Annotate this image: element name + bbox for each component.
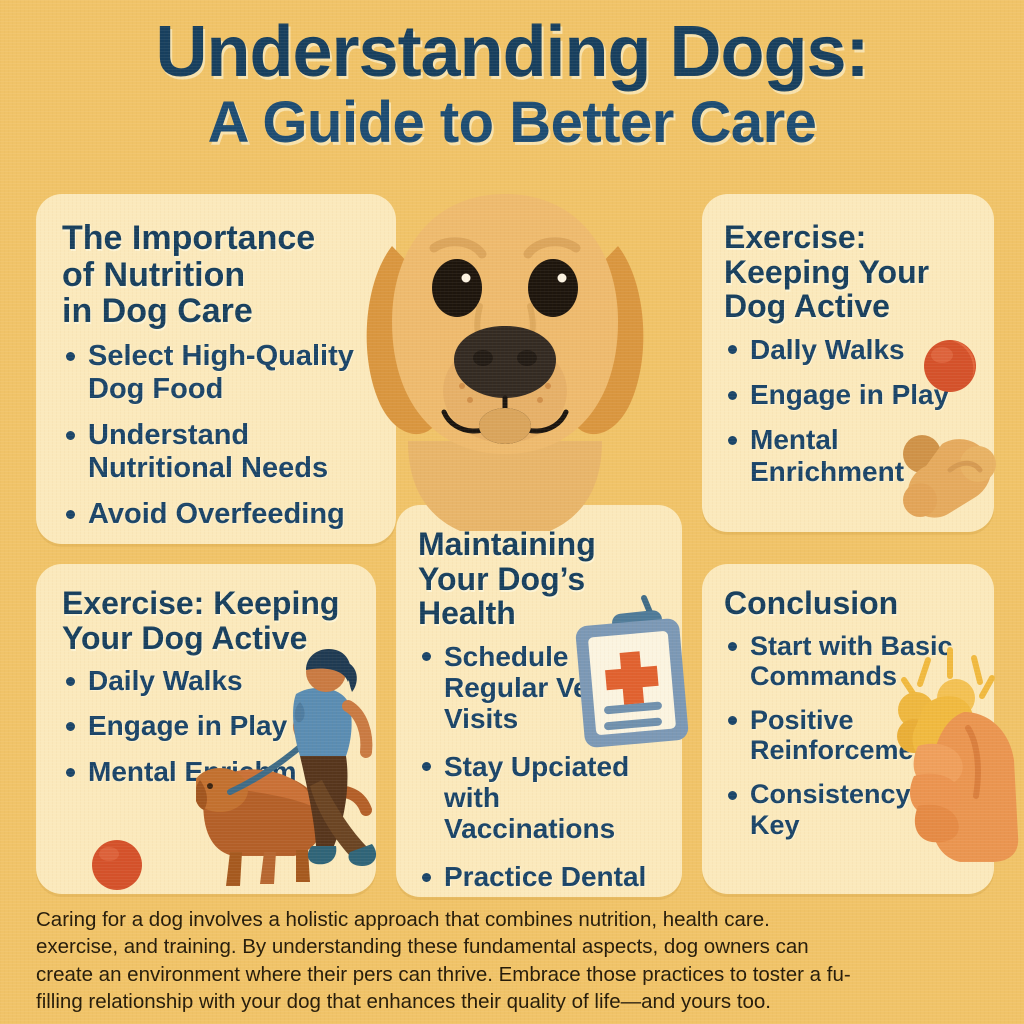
page-title: Understanding Dogs: A Guide to Better Ca… <box>0 16 1024 154</box>
footer-line-3: create an environment where their pers c… <box>36 961 998 988</box>
list-item: Stay Upciated with Vaccinations <box>418 751 668 845</box>
footer-line-4: filling relationship with your dog that … <box>36 988 998 1015</box>
title-line-1: Understanding Dogs: <box>0 16 1024 89</box>
ball-icon <box>90 838 144 892</box>
title-line-2: A Guide to Better Care <box>0 93 1024 154</box>
person-walking-dog-illustration <box>196 640 388 890</box>
list-item: Select High-Quality Dog Food <box>62 340 376 405</box>
card-nutrition-list: Select High-Quality Dog Food Understand … <box>62 340 376 530</box>
medical-clipboard-icon <box>572 592 694 750</box>
card-nutrition-heading: The Importance of Nutrition in Dog Care <box>62 220 376 330</box>
list-item: Understand Nutritional Needs <box>62 419 376 484</box>
card-conclusion-heading: Conclusion <box>724 586 980 621</box>
footer-line-1: Caring for a dog involves a holistic app… <box>36 906 998 933</box>
list-item: Practice Dental Care <box>418 861 668 897</box>
footer-line-2: exercise, and training. By understanding… <box>36 933 998 960</box>
footer-paragraph: Caring for a dog involves a holistic app… <box>36 906 998 1015</box>
ball-icon <box>922 338 978 394</box>
hand-holding-treat-illustration <box>884 636 1024 862</box>
infographic-page: Understanding Dogs: A Guide to Better Ca… <box>0 0 1024 1024</box>
labrador-dog-head-illustration <box>330 186 680 531</box>
list-item: Avoid Overfeeding <box>62 498 376 530</box>
bone-icon <box>900 430 1004 525</box>
card-exercise-top-heading: Exercise: Keeping Your Dog Active <box>724 220 978 324</box>
